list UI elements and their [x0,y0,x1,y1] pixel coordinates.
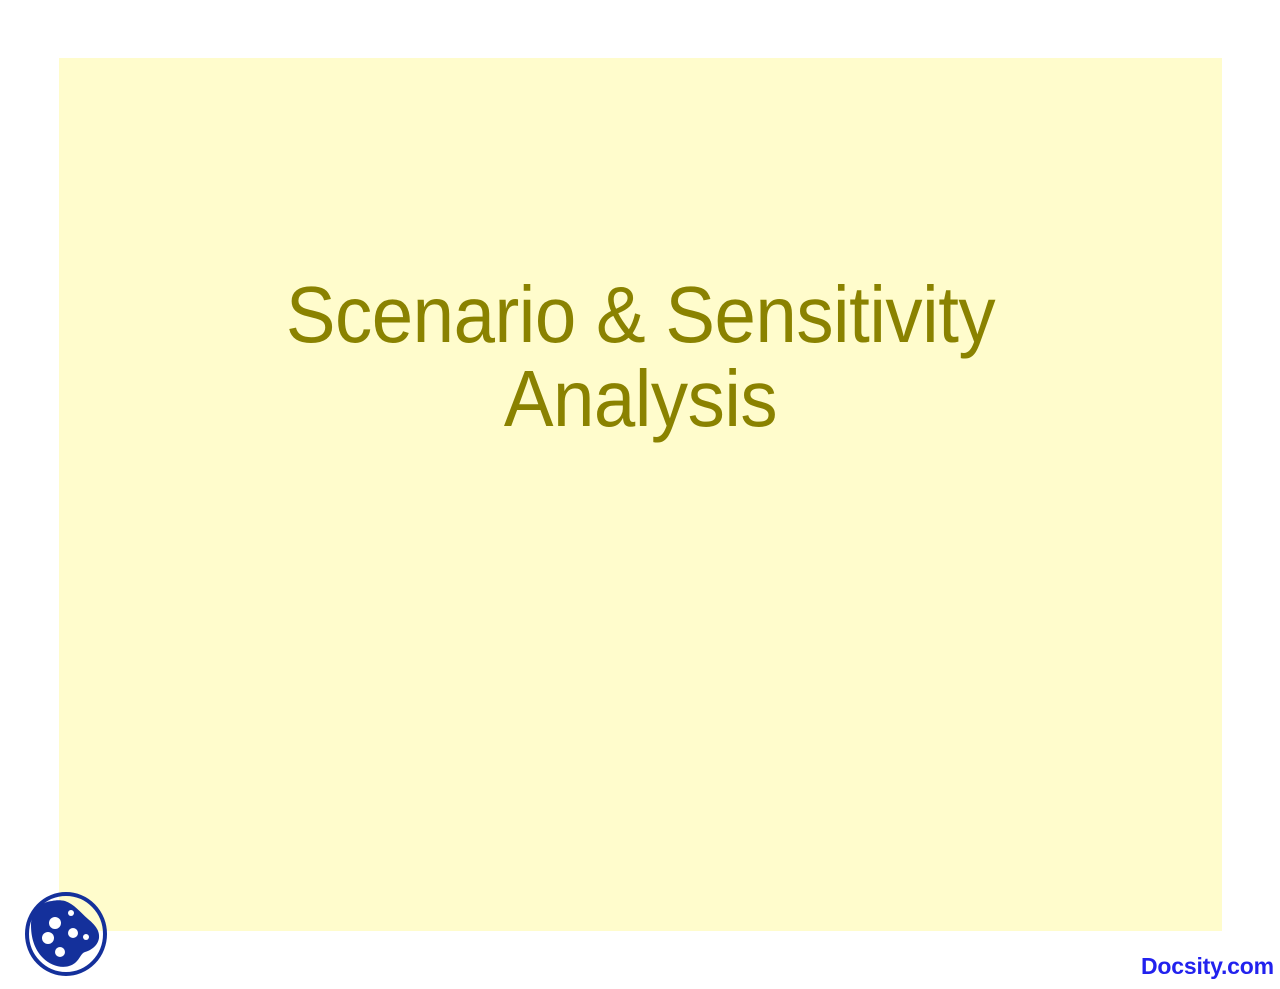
docsity-wordmark: Docsity.com [1141,953,1274,979]
logo-dot [55,947,65,957]
slide-canvas: Scenario & Sensitivity Analysis [59,58,1222,931]
title-block: Scenario & Sensitivity Analysis [59,273,1222,441]
docsity-cookie-logo [22,891,110,977]
logo-dot [68,910,74,916]
logo-dot [83,934,89,940]
logo-cookie-shape [31,900,99,967]
logo-dot [49,917,61,929]
logo-dot [68,928,78,938]
logo-dot [42,932,54,944]
page-title: Scenario & Sensitivity Analysis [100,273,1182,441]
slide-root: Scenario & Sensitivity Analysis Docsity.… [0,0,1280,989]
